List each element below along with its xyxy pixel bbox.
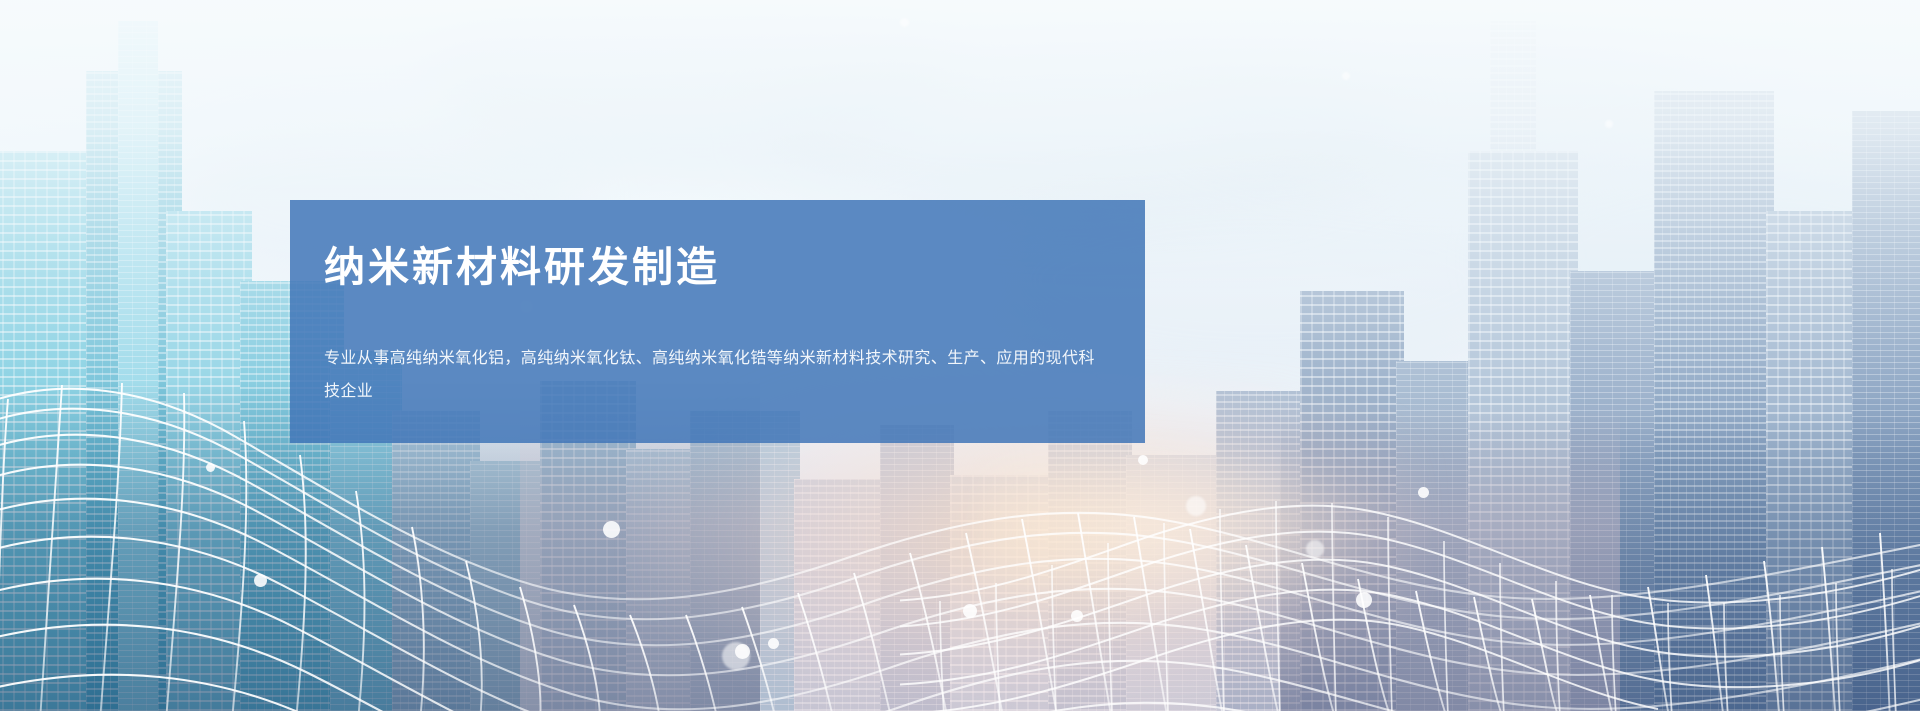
bokeh-dot [1071, 610, 1083, 622]
sun-flare-core [980, 430, 1400, 630]
bokeh-dot [206, 463, 215, 472]
bokeh-dot [963, 604, 977, 618]
bokeh-dot [1186, 496, 1206, 516]
hero-banner: 纳米新材料研发制造 专业从事高纯纳米氧化铝，高纯纳米氧化钛、高纯纳米氧化锆等纳米… [0, 0, 1920, 711]
hero-subtitle: 专业从事高纯纳米氧化铝，高纯纳米氧化钛、高纯纳米氧化锆等纳米新材料技术研究、生产… [324, 343, 1099, 409]
bokeh-dot [1138, 455, 1148, 465]
bokeh-dot [254, 574, 267, 587]
bokeh-dot [603, 521, 620, 538]
bokeh-dot [1605, 120, 1613, 128]
bokeh-dot [722, 642, 750, 670]
bokeh-dot [1306, 540, 1324, 558]
bokeh-dot [1342, 72, 1350, 80]
bokeh-dot [1418, 487, 1429, 498]
bokeh-dot [1356, 592, 1372, 608]
page-title: 纳米新材料研发制造 [324, 244, 1099, 291]
hero-text-panel: 纳米新材料研发制造 专业从事高纯纳米氧化铝，高纯纳米氧化钛、高纯纳米氧化锆等纳米… [290, 200, 1145, 443]
bokeh-dot [900, 18, 909, 27]
bokeh-dot [768, 638, 779, 649]
